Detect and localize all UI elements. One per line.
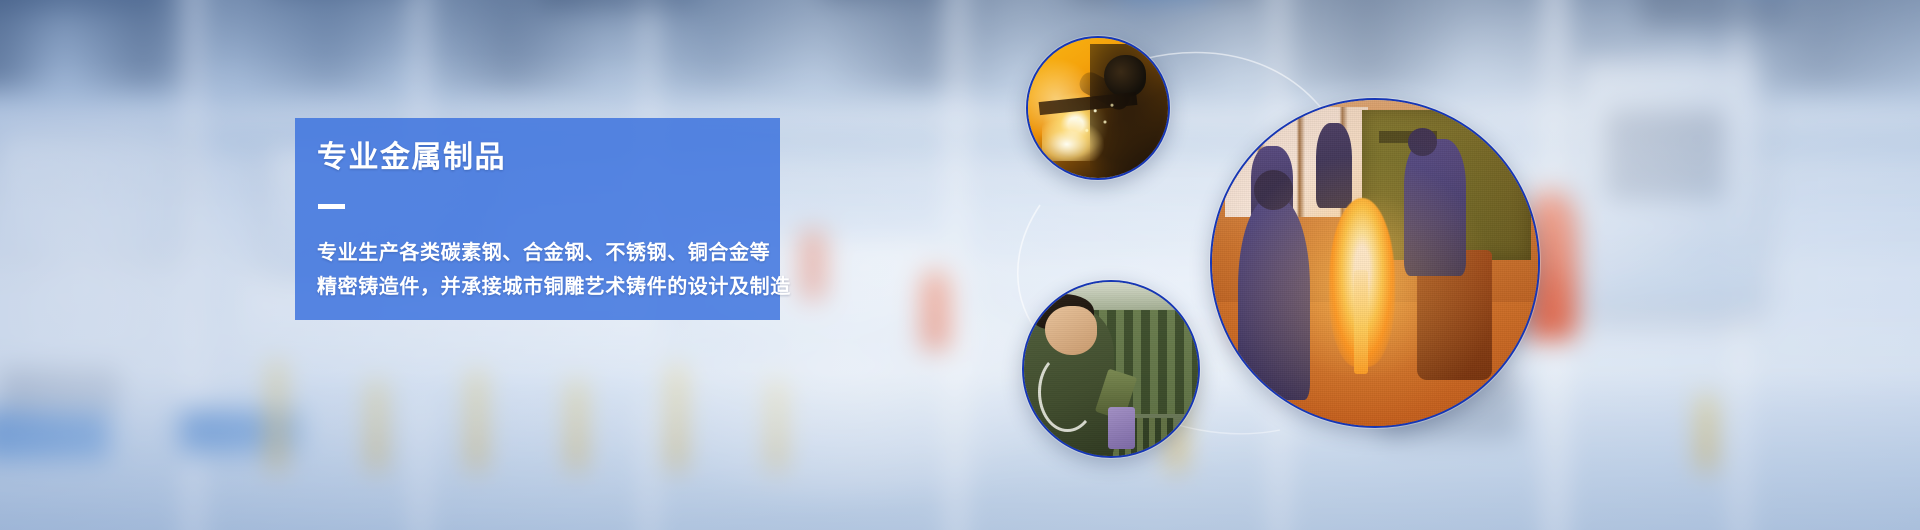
welding-sparks-photo: [1028, 38, 1168, 178]
medallion-welding-sparks[interactable]: [1026, 36, 1170, 180]
medallion-group: [0, 0, 1920, 530]
metal-pouring-photo: [1212, 100, 1538, 426]
medallion-casting-inspection[interactable]: [1022, 280, 1200, 458]
hero-banner: 专业金属制品 专业生产各类碳素钢、合金钢、不锈钢、铜合金等 精密铸造件，并承接城…: [0, 0, 1920, 530]
medallion-metal-pouring[interactable]: [1210, 98, 1540, 428]
casting-inspection-photo: [1024, 282, 1198, 456]
